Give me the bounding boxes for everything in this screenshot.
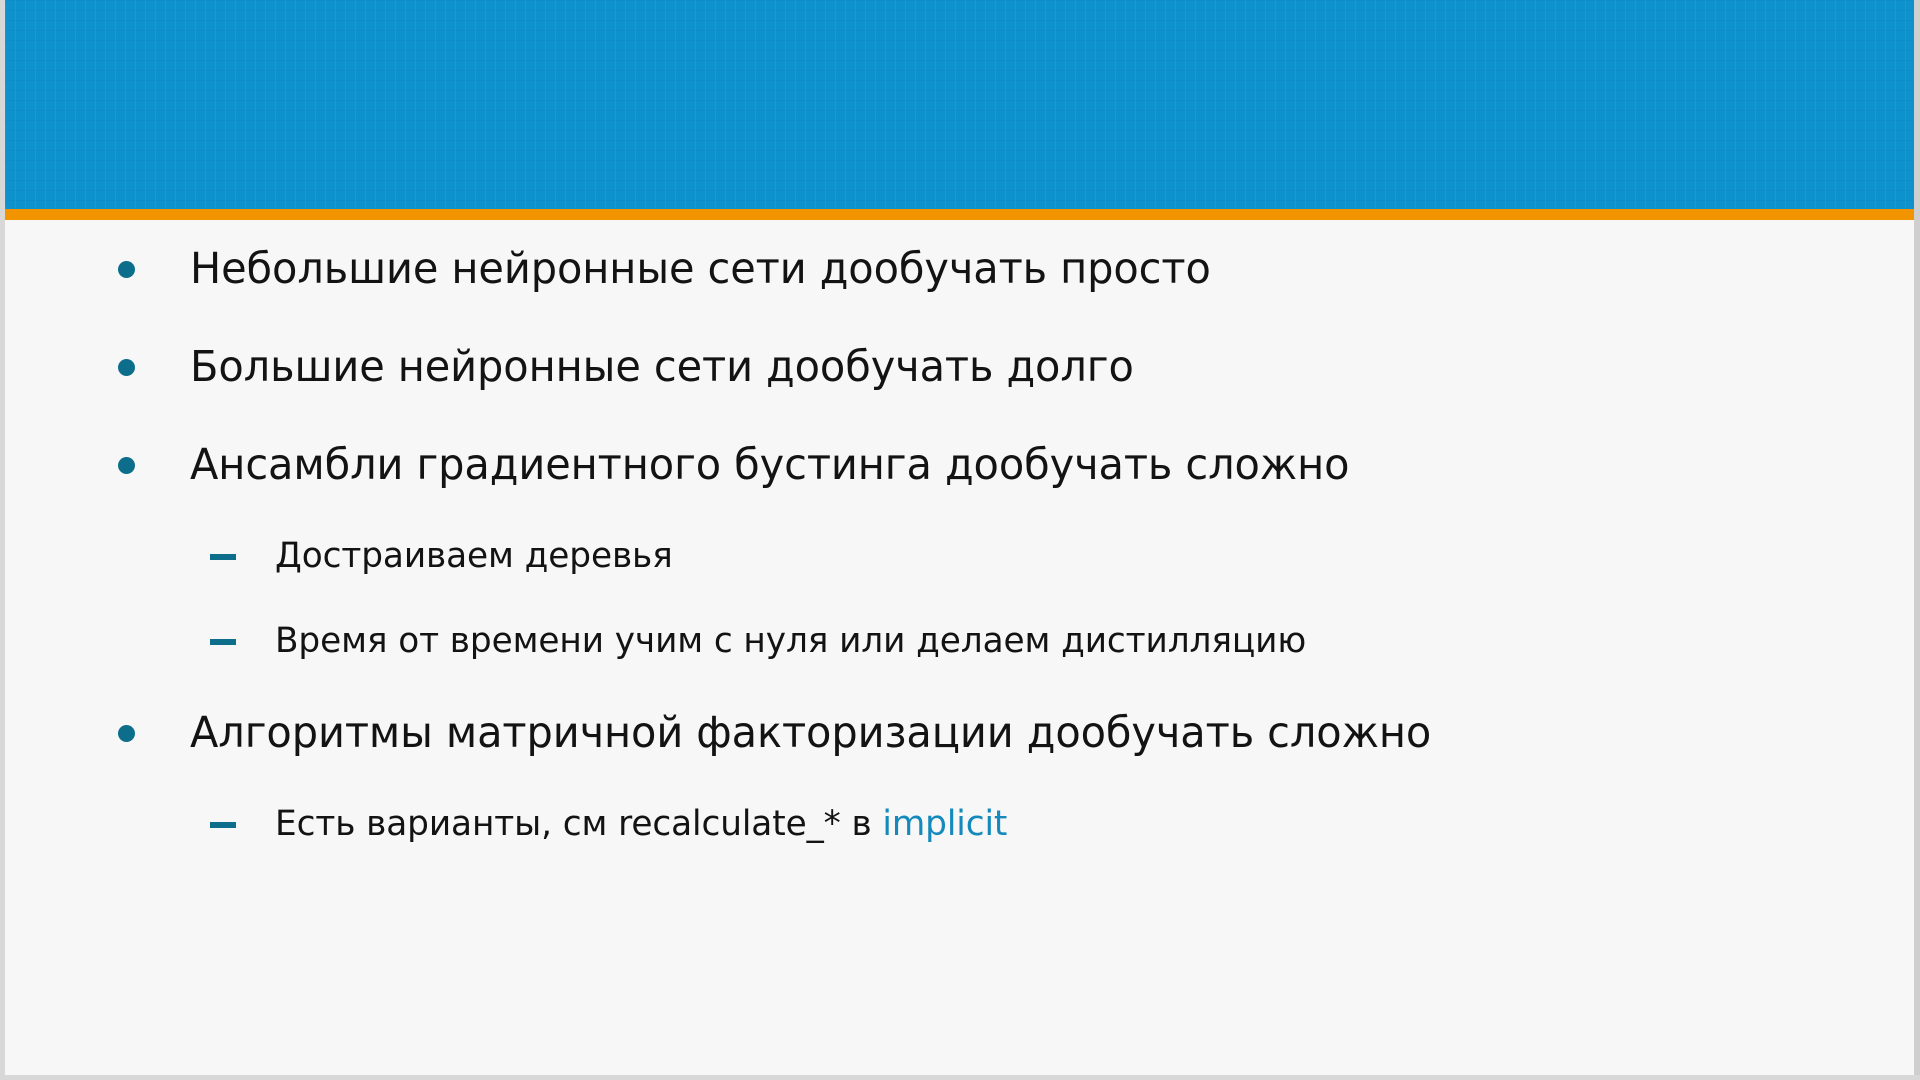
- sub-bullet-item: Есть варианты, см recalculate_* в implic…: [5, 782, 1914, 867]
- slide-bottom-margin: [0, 1075, 1920, 1080]
- sub-bullet-text: Достраиваем деревья: [275, 514, 673, 599]
- dash-bullet-icon: [210, 554, 236, 560]
- slide-left-margin: [0, 0, 5, 1080]
- implicit-link[interactable]: implicit: [882, 804, 1007, 844]
- sub-bullet-item: Время от времени учим с нуля или делаем …: [5, 599, 1914, 684]
- slide-header-band: [5, 0, 1914, 209]
- bullet-item: Большие нейронные сети дообучать долго: [5, 318, 1914, 416]
- bullet-text: Большие нейронные сети дообучать долго: [190, 318, 1134, 416]
- dash-bullet-icon: [210, 639, 236, 645]
- sub-bullet-text: Время от времени учим с нуля или делаем …: [275, 599, 1306, 684]
- bullet-item: Алгоритмы матричной факторизации дообуча…: [5, 684, 1914, 782]
- sub-bullet-text-with-link: Есть варианты, см recalculate_* в implic…: [275, 782, 1007, 867]
- sub-bullet-item: Достраиваем деревья: [5, 514, 1914, 599]
- bullet-item: Небольшие нейронные сети дообучать прост…: [5, 220, 1914, 318]
- header-accent-rule: [5, 209, 1914, 220]
- bullet-text: Небольшие нейронные сети дообучать прост…: [190, 220, 1211, 318]
- slide-right-margin: [1914, 0, 1920, 1080]
- bullet-item: Ансамбли градиентного бустинга дообучать…: [5, 416, 1914, 514]
- sub-bullet-text-prefix: Есть варианты, см recalculate_* в: [275, 804, 882, 844]
- disc-bullet-icon: [118, 725, 135, 742]
- slide: Дообучение: ограничения алгоритмов Небол…: [0, 0, 1920, 1080]
- slide-body: Небольшие нейронные сети дообучать прост…: [5, 220, 1914, 1075]
- bullet-list: Небольшие нейронные сети дообучать прост…: [5, 220, 1914, 867]
- bullet-text: Ансамбли градиентного бустинга дообучать…: [190, 416, 1349, 514]
- bullet-text: Алгоритмы матричной факторизации дообуча…: [190, 684, 1431, 782]
- disc-bullet-icon: [118, 359, 135, 376]
- disc-bullet-icon: [118, 261, 135, 278]
- disc-bullet-icon: [118, 457, 135, 474]
- dash-bullet-icon: [210, 822, 236, 828]
